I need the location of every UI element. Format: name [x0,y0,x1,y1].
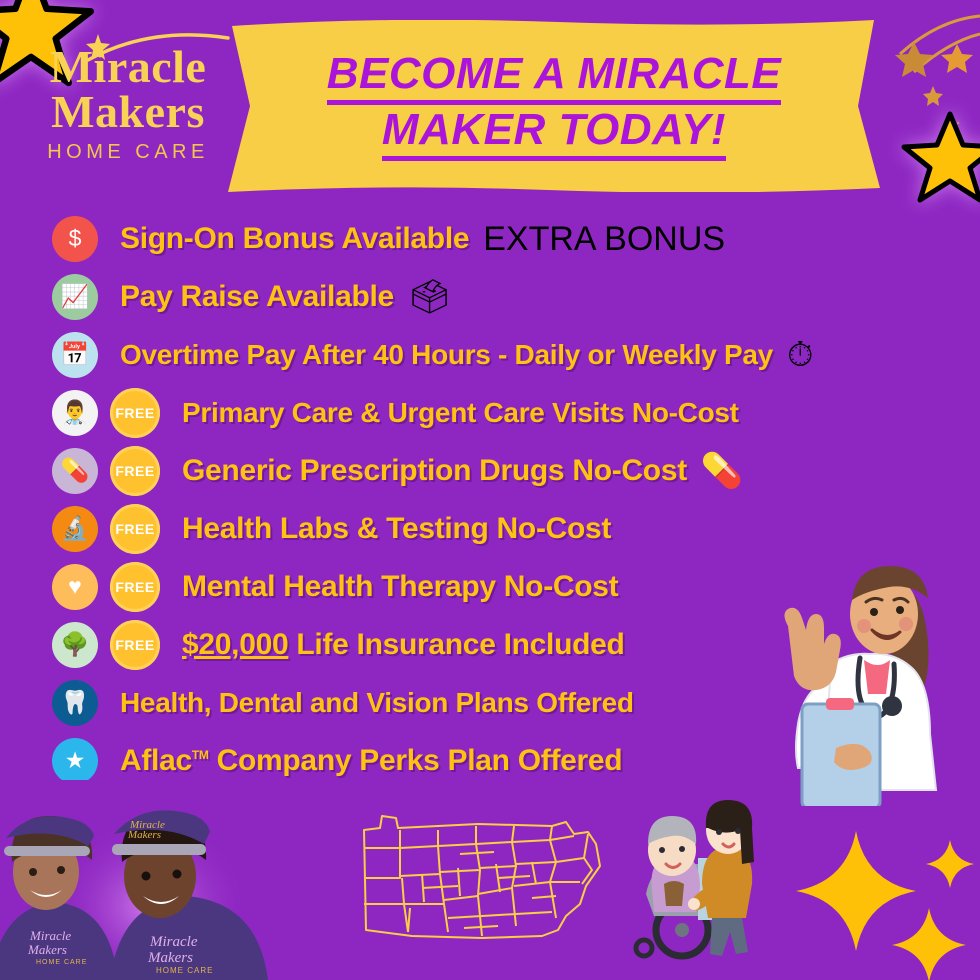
calendar-clock-icon: 📅 [52,332,98,378]
benefit-label: Mental Health Therapy No-Cost [182,570,618,604]
logo-swoosh-icon [80,30,230,64]
svg-text:Miracle: Miracle [149,934,198,950]
prescription-bottle-icon: 💊 [701,454,743,488]
caregivers-photo: Miracle Makers HOME CARE Miracle Makers … [0,780,290,980]
pennsylvania-county-map [352,808,614,958]
svg-text:HOME CARE: HOME CARE [36,959,87,966]
benefit-label: Health Labs & Testing No-Cost [182,512,611,546]
benefit-label: Overtime Pay After 40 Hours - Daily or W… [120,339,773,371]
benefit-label: $20,000 Life Insurance Included [182,628,625,662]
free-badge: FREE [110,388,160,438]
benefit-label: Pay Raise Available [120,280,394,314]
headline-line-1: BECOME A MIRACLE [327,51,782,105]
heart-icon: ♥ [52,564,98,610]
benefit-row: 📈Pay Raise Available🗳 [52,268,952,325]
tree-of-life-icon: 🌳 [52,622,98,668]
headline-banner: BECOME A MIRACLE MAKER TODAY! [228,20,880,192]
free-badge: FREE [110,562,160,612]
svg-text:Makers: Makers [27,942,67,957]
microscope-icon: 🔬 [52,506,98,552]
svg-text:Makers: Makers [147,950,193,966]
benefit-row: $Sign-On Bonus AvailableEXTRA BONUS [52,210,952,267]
headline-line-2: MAKER TODAY! [382,107,726,161]
star-badge-icon: ★ [52,738,98,784]
pay-raise-chart-icon: 📈 [52,274,98,320]
benefit-row: 🔬FREEHealth Labs & Testing No-Cost [52,500,952,557]
corner-star-large-icon [900,108,980,208]
free-badge: FREE [110,446,160,496]
free-badge: FREE [110,620,160,670]
benefit-label: Sign-On Bonus Available [120,222,469,256]
pill-bottle-icon: 💊 [52,448,98,494]
benefit-label: Generic Prescription Drugs No-Cost [182,454,687,488]
brand-logo: Miracle Makers HOME CARE [28,44,228,164]
logo-line-2: Makers [28,89,228,134]
benefit-row: 💊FREEGeneric Prescription Drugs No-Cost💊 [52,442,952,499]
benefit-row: 👨‍⚕️FREEPrimary Care & Urgent Care Visit… [52,384,952,441]
promotional-poster: Miracle Makers HOME CARE BECOME A MIRACL… [0,0,980,980]
sparkle-small-icon [926,838,974,890]
free-badge: FREE [110,504,160,554]
benefit-label: Primary Care & Urgent Care Visits No-Cos… [182,397,739,429]
svg-text:Makers: Makers [127,829,161,841]
dollar-circle-icon: $ [52,216,98,262]
tooth-icon: 🦷 [52,680,98,726]
caregiver-wheelchair-illustration [624,798,764,968]
money-clock-icon: ⏱ [787,338,814,372]
sparkle-medium-icon [892,906,966,980]
svg-text:Miracle: Miracle [29,928,71,943]
extra-bonus-burst-icon: EXTRA BONUS [483,222,725,256]
logo-line-3: HOME CARE [28,141,228,164]
benefit-row: 📅Overtime Pay After 40 Hours - Daily or … [52,326,952,383]
check-writing-icon: 🗳 [408,280,451,314]
benefit-label: Health, Dental and Vision Plans Offered [120,687,634,719]
doctor-avatar-icon: 👨‍⚕️ [52,390,98,436]
benefit-label: AflacTM Company Perks Plan Offered [120,744,622,778]
waving-doctor-illustration [744,556,970,806]
svg-text:HOME CARE: HOME CARE [156,966,213,975]
